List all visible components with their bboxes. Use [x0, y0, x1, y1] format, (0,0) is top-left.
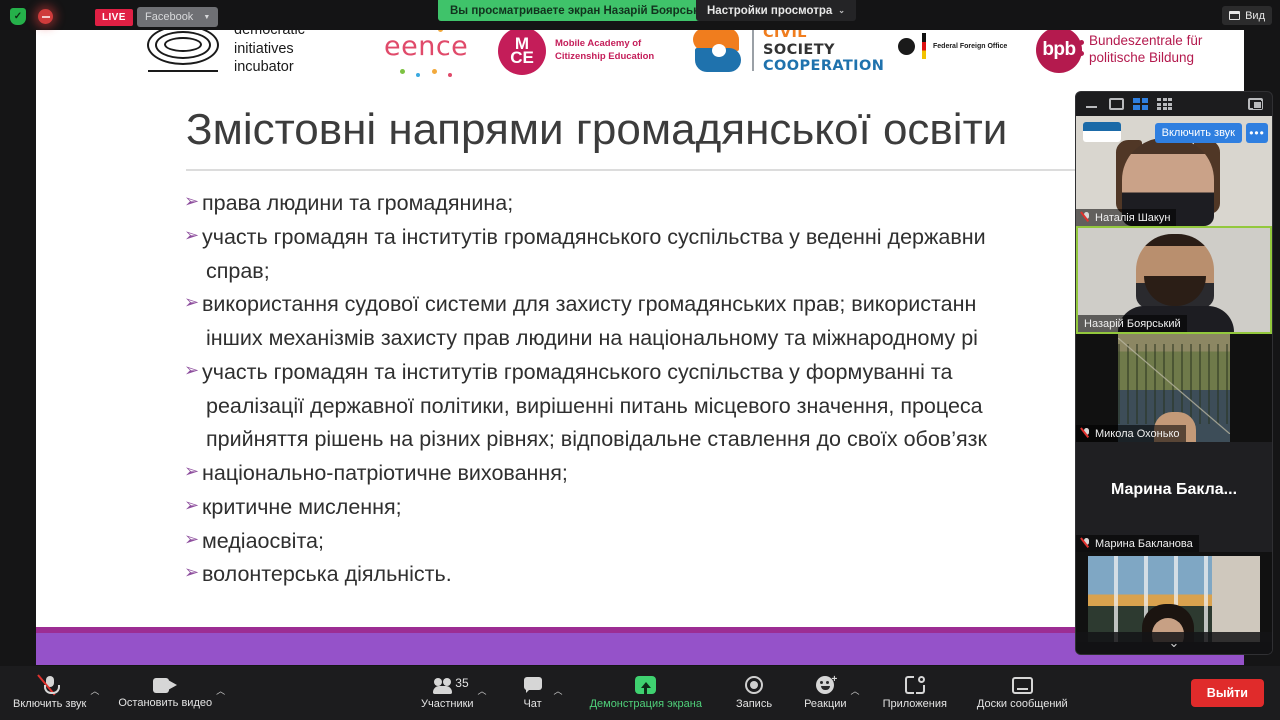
bullet-item: критичне мислення; — [184, 491, 1194, 525]
participants-count: 35 — [455, 676, 468, 690]
participants-button[interactable]: 35 Участники ︿ — [412, 666, 483, 720]
whiteboard-icon — [1012, 677, 1033, 694]
participant-name: Назарій Боярський — [1084, 318, 1181, 330]
whiteboards-label: Доски сообщений — [977, 698, 1068, 710]
view-button-label: Вид — [1245, 10, 1265, 22]
bullet-item: національно-патріотичне виховання; — [184, 457, 1194, 491]
bullet-item-continuation: реалізації державної політики, вирішенні… — [184, 390, 1194, 424]
participant-name: Наталія Шакун — [1095, 212, 1170, 224]
bullet-item: участь громадян та інститутів громадянсь… — [184, 356, 1194, 390]
apps-label: Приложения — [883, 698, 947, 710]
microphone-muted-icon — [39, 676, 61, 694]
speaker-view-icon[interactable] — [1109, 98, 1124, 110]
unmute-button[interactable]: Включить звук — [1155, 123, 1242, 143]
participant-name-bar: Марина Бакланова — [1076, 535, 1199, 552]
participant-name: Микола Охонько — [1095, 428, 1180, 440]
slide-footer-band — [36, 627, 1244, 665]
csc-text: CIVIL SOCIETY COOPERATION — [763, 25, 884, 75]
stream-platform-label: Facebook — [145, 11, 193, 23]
chevron-up-icon[interactable]: ︿ — [90, 684, 99, 697]
video-button[interactable]: Остановить видео ︿ — [109, 666, 221, 720]
bullet-item: участь громадян та інститутів громадянсь… — [184, 221, 1194, 255]
german-eagle-icon — [898, 38, 915, 55]
screen-share-banner: Вы просматриваете экран Назарій Боярськи… — [438, 0, 725, 21]
chevron-down-icon: ▼ — [203, 14, 210, 21]
logo-federal-foreign-office: Federal Foreign Office — [898, 33, 1007, 59]
bullet-item-continuation: інших механізмів захисту прав людини на … — [184, 322, 1194, 356]
eence-wordmark: eence — [384, 31, 468, 62]
chevron-down-icon: ⌄ — [838, 6, 845, 15]
bpb-mark-icon: bpb — [1036, 27, 1082, 73]
slide-title: Змістовні напрями громадянської освіти — [186, 105, 1226, 155]
people-icon: 35 — [434, 676, 460, 694]
divider — [752, 29, 754, 71]
share-screen-label: Демонстрация экрана — [590, 698, 702, 710]
shared-screen-slide: democratic initiatives incubator eence — [36, 1, 1244, 665]
participant-name-bar: Микола Охонько — [1076, 425, 1186, 442]
apps-button[interactable]: Приложения — [874, 666, 956, 720]
view-icon — [1229, 11, 1240, 20]
view-button[interactable]: Вид — [1222, 6, 1272, 25]
share-screen-button[interactable]: Демонстрация экрана — [581, 666, 711, 720]
zoom-meeting-window: LIVE Facebook ▼ Вы просматриваете экран … — [0, 0, 1280, 720]
view-settings-label: Настройки просмотра — [707, 5, 832, 17]
record-icon — [745, 676, 763, 694]
grid-view-icon[interactable] — [1157, 98, 1172, 110]
mic-button[interactable]: Включить звук ︿ — [4, 666, 95, 720]
participant-tile[interactable]: Микола Охонько — [1076, 334, 1272, 442]
share-screen-icon — [635, 676, 656, 694]
reactions-label: Реакции — [804, 698, 847, 710]
video-label: Остановить видео — [118, 697, 212, 709]
chevron-up-icon[interactable]: ︿ — [851, 684, 860, 697]
background-logo — [1083, 122, 1121, 142]
gallery-view-icon[interactable] — [1133, 98, 1148, 110]
participant-video-panel: Включить звук ••• Наталія Шакун Назарій … — [1076, 92, 1272, 654]
slide-footer-stripe — [36, 627, 1244, 633]
bullet-item: волонтерська діяльність. — [184, 558, 1194, 592]
more-options-icon[interactable]: ••• — [1246, 123, 1268, 143]
panel-scroll-down-button[interactable]: ⌄ — [1076, 632, 1272, 654]
participant-name-bar: Наталія Шакун — [1076, 209, 1176, 226]
chevron-up-icon[interactable]: ︿ — [216, 684, 225, 697]
german-flag-icon — [922, 33, 926, 59]
chat-label: Чат — [523, 698, 541, 710]
participant-tile-speaking[interactable]: Назарій Боярський — [1076, 226, 1272, 334]
bullet-item: використання судової системи для захисту… — [184, 288, 1194, 322]
logo-mobile-academy: M CE Mobile Academy of Citizenship Educa… — [498, 27, 654, 75]
participant-placeholder-name: Марина Бакла... — [1111, 481, 1237, 499]
record-label: Запись — [736, 698, 772, 710]
participant-tile[interactable]: Включить звук ••• Наталія Шакун — [1076, 116, 1272, 226]
leave-meeting-button[interactable]: Выйти — [1191, 679, 1264, 707]
whiteboards-button[interactable]: Доски сообщений — [968, 666, 1077, 720]
logo-bpb: bpb Bundeszentrale für politische Bildun… — [1036, 27, 1202, 73]
dii-mark-icon — [146, 25, 220, 73]
participant-tile-no-video[interactable]: Марина Бакла... Марина Бакланова — [1076, 442, 1272, 552]
csc-mark-icon — [691, 26, 743, 74]
recording-dot-icon[interactable] — [38, 9, 53, 24]
muted-mic-icon — [1082, 538, 1090, 549]
ffo-text: Federal Foreign Office — [933, 43, 1007, 50]
meeting-toolbar: Включить звук ︿ Остановить видео ︿ 35 Уч… — [0, 666, 1280, 720]
chevron-down-icon: ⌄ — [1169, 635, 1180, 651]
encryption-shield-icon[interactable] — [10, 8, 26, 25]
live-badge: LIVE — [95, 9, 133, 26]
mace-mark-icon: M CE — [498, 27, 546, 75]
minimize-icon[interactable] — [1085, 98, 1100, 110]
muted-mic-icon — [1082, 212, 1090, 223]
slide-bullet-list: права людини та громадянина; участь гром… — [184, 187, 1194, 592]
participant-name-bar: Назарій Боярський — [1078, 315, 1187, 332]
camera-icon — [153, 678, 177, 693]
view-settings-button[interactable]: Настройки просмотра ⌄ — [696, 0, 856, 21]
logo-eence: eence — [384, 31, 468, 62]
muted-mic-icon — [1082, 428, 1090, 439]
mic-label: Включить звук — [13, 698, 86, 710]
stream-platform-dropdown[interactable]: Facebook ▼ — [137, 7, 218, 27]
top-bar: LIVE Facebook ▼ Вы просматриваете экран … — [0, 0, 1280, 30]
reaction-smiley-icon: + — [816, 676, 834, 694]
chevron-up-icon[interactable]: ︿ — [554, 684, 563, 697]
title-divider — [186, 169, 1186, 171]
record-button[interactable]: Запись — [727, 666, 781, 720]
panel-view-controls — [1076, 92, 1272, 116]
bullet-item-continuation: справ; — [184, 255, 1194, 289]
apps-icon — [905, 676, 925, 694]
bullet-item: медіаосвіта; — [184, 525, 1194, 559]
bpb-text: Bundeszentrale für politische Bildung — [1089, 33, 1202, 67]
participants-label: Участники — [421, 698, 474, 710]
popout-icon[interactable] — [1248, 98, 1263, 110]
bullet-item: права людини та громадянина; — [184, 187, 1194, 221]
logo-civil-society-cooperation: CIVIL SOCIETY COOPERATION — [691, 25, 884, 75]
bullet-item-continuation: прийняття рішень на різних рівнях; відпо… — [184, 423, 1194, 457]
reactions-button[interactable]: + Реакции ︿ — [795, 666, 856, 720]
chat-bubble-icon — [522, 676, 544, 694]
mace-text: Mobile Academy of Citizenship Education — [555, 38, 654, 64]
chat-button[interactable]: Чат ︿ — [507, 666, 559, 720]
toolbar-left-group: Включить звук ︿ Остановить видео ︿ — [4, 666, 221, 720]
chevron-up-icon[interactable]: ︿ — [478, 684, 487, 697]
toolbar-center-group: 35 Участники ︿ Чат ︿ Демонстрация экрана… — [412, 666, 1077, 720]
participant-name: Марина Бакланова — [1095, 538, 1193, 550]
